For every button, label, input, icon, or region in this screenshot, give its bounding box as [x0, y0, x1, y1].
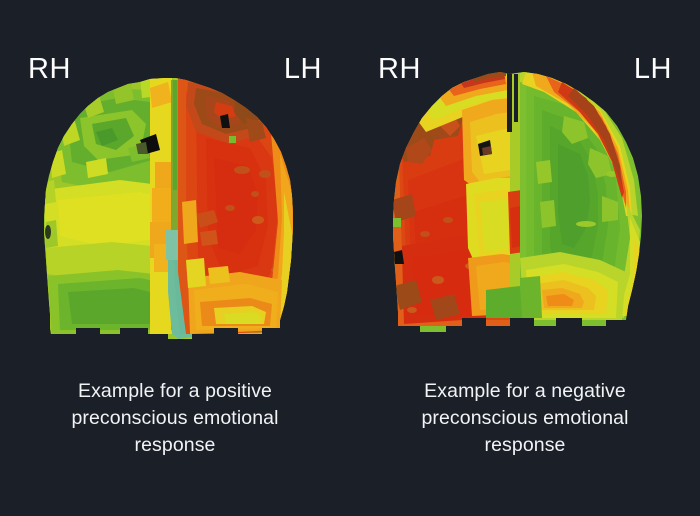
caption-line: Example for a positive — [22, 378, 328, 405]
brain-color-field-negative — [350, 52, 700, 342]
brain-color-field-positive — [0, 62, 350, 352]
brain-heatmap-svg-negative — [350, 52, 700, 342]
caption-negative: Example for a negative preconscious emot… — [372, 378, 678, 459]
figure-root: RH LH — [0, 0, 700, 516]
caption-line: Example for a negative — [372, 378, 678, 405]
brain-heatmap-negative — [350, 52, 700, 342]
caption-line: response — [372, 432, 678, 459]
panel-negative-response: RH LH — [350, 0, 700, 516]
caption-line: preconscious emotional — [22, 405, 328, 432]
brain-heatmap-positive — [0, 62, 350, 352]
caption-positive: Example for a positive preconscious emot… — [22, 378, 328, 459]
caption-line: response — [22, 432, 328, 459]
caption-line: preconscious emotional — [372, 405, 678, 432]
panel-positive-response: RH LH — [0, 0, 350, 516]
brain-heatmap-svg-positive — [0, 62, 350, 352]
